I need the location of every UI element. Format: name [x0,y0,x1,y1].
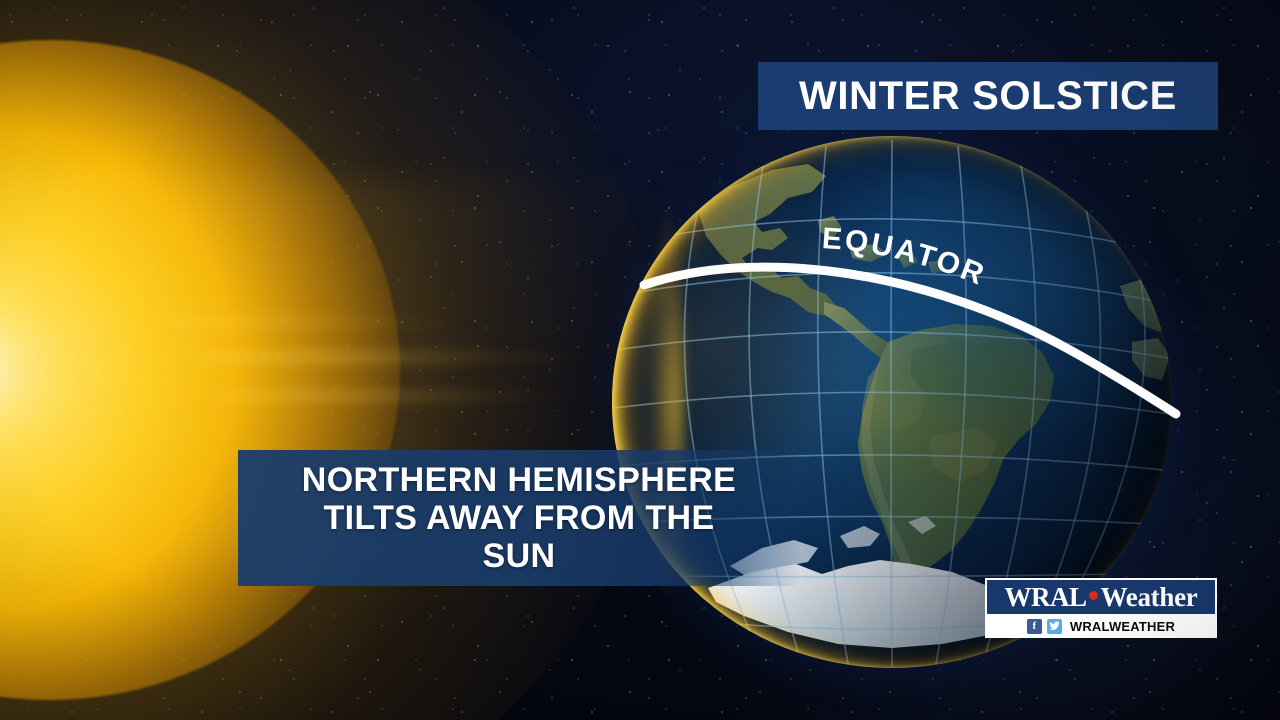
caption-line-2: TILTS AWAY FROM THE [302,499,737,537]
sun-ray-streak-2 [210,392,590,400]
logo-weather-text: Weather [1101,584,1198,611]
wral-weather-logo: WRAL Weather f WRALWEATHER [985,578,1217,638]
logo-brand-bar: WRAL Weather [985,578,1217,616]
twitter-icon[interactable] [1047,619,1062,634]
caption-line-1: NORTHERN HEMISPHERE [302,461,737,499]
title-banner: WINTER SOLSTICE [758,62,1218,130]
logo-social-bar: f WRALWEATHER [985,616,1217,638]
sun-ray-streak-1 [180,352,610,362]
facebook-icon[interactable]: f [1027,619,1042,634]
weather-graphic-stage: EQUATOR WINTER SOLSTICE NORTHERN HEMISPH… [0,0,1280,720]
caption-banner: NORTHERN HEMISPHERE TILTS AWAY FROM THE … [238,450,800,586]
caption-line-3: SUN [302,537,737,575]
title-banner-label: WINTER SOLSTICE [799,76,1177,116]
caption-banner-text: NORTHERN HEMISPHERE TILTS AWAY FROM THE … [302,461,737,575]
logo-wral-text: WRAL [1005,584,1087,611]
sun-ray-streak-3 [150,318,480,325]
logo-social-handle: WRALWEATHER [1070,619,1175,634]
logo-accent-dot-icon [1089,591,1098,600]
